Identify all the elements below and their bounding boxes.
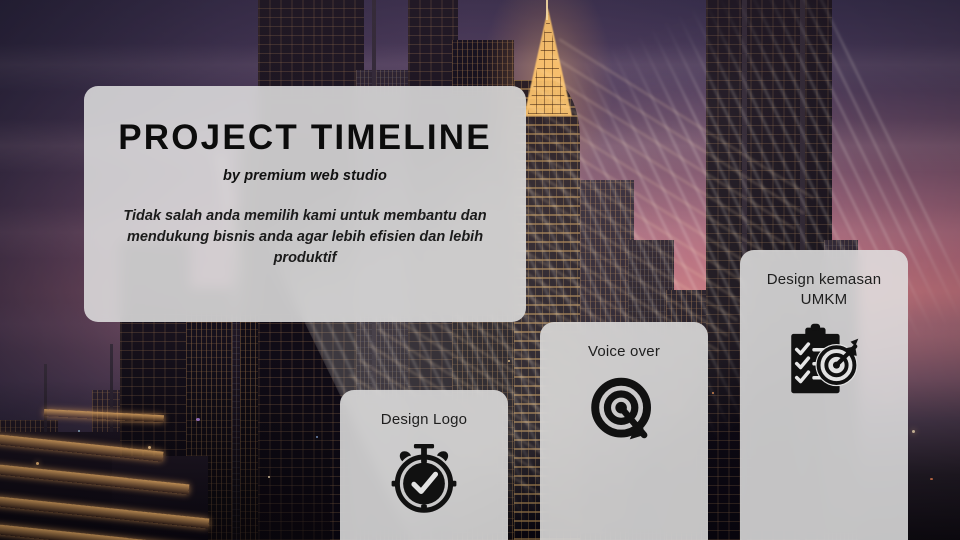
timeline-card-voice-over[interactable]: Voice over [540,322,708,540]
stopwatch-check-icon [388,444,460,516]
timeline-card-design-logo[interactable]: Design Logo [340,390,508,540]
slide-canvas: PROJECT TIMELINE by premium web studio T… [0,0,960,540]
hero-panel: PROJECT TIMELINE by premium web studio T… [84,86,526,322]
card-title: Design Logo [381,410,467,430]
card-title: Voice over [588,342,660,362]
hero-byline: by premium web studio [223,168,387,184]
target-arrow-icon [588,376,660,448]
page-title: PROJECT TIMELINE [118,120,492,155]
timeline-card-design-kemasan-umkm[interactable]: Design kemasan UMKM [740,250,908,540]
card-title: Design kemasan UMKM [750,270,898,311]
clipboard-checklist-target-icon [785,323,863,401]
hero-tagline: Tidak salah anda memilih kami untuk memb… [110,206,500,269]
